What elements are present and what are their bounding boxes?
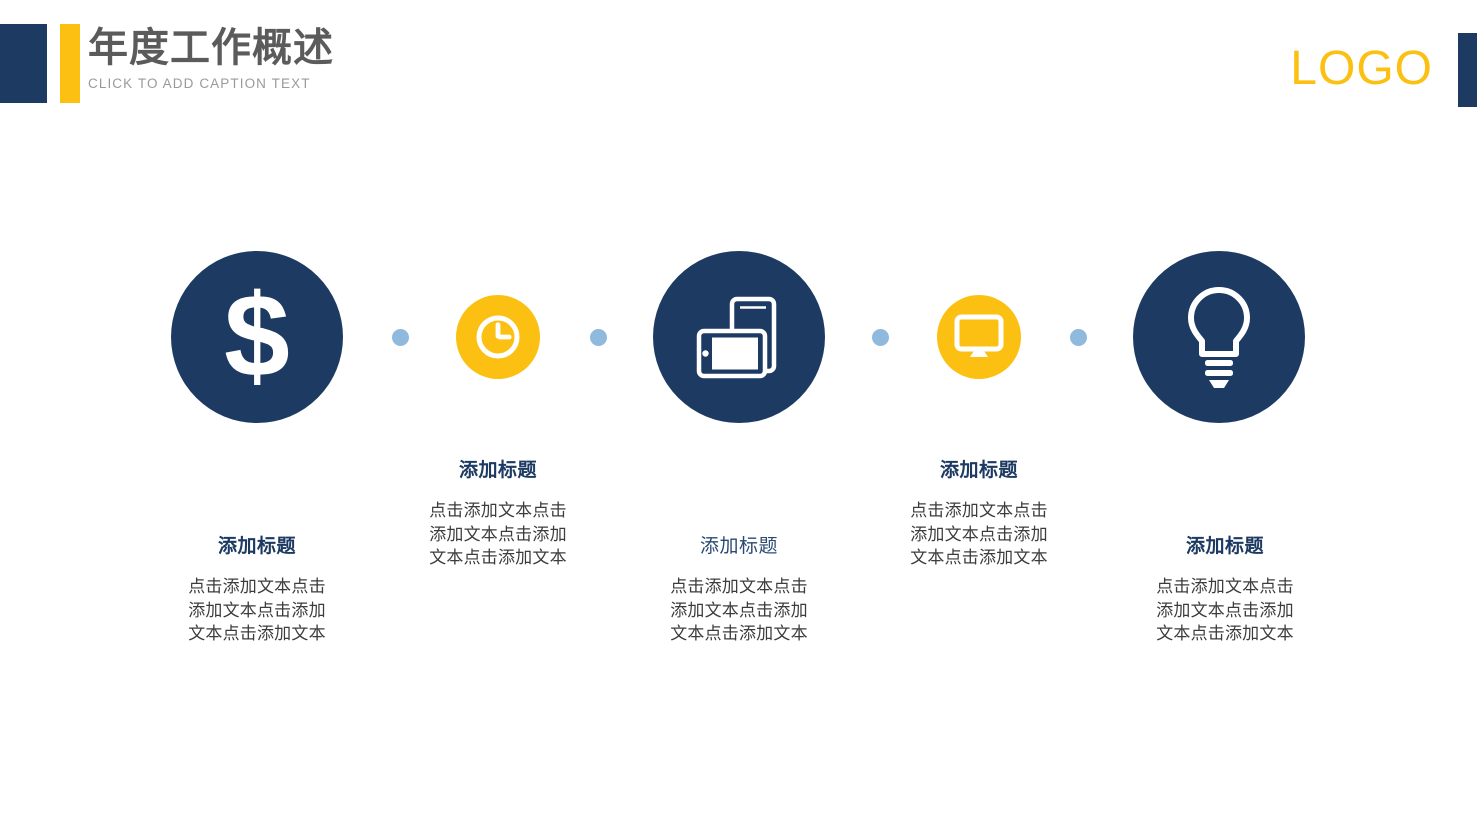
mobile-devices-icon bbox=[687, 285, 791, 389]
caption-body-line: 文本点击添加文本 bbox=[854, 546, 1104, 570]
caption-block-2: 添加标题 点击添加文本点击 添加文本点击添加 文本点击添加文本 bbox=[373, 458, 623, 570]
timeline-node-4[interactable] bbox=[937, 295, 1021, 379]
caption-title-5: 添加标题 bbox=[1100, 534, 1350, 560]
caption-title-2: 添加标题 bbox=[373, 458, 623, 484]
caption-body-line: 点击添加文本点击 bbox=[614, 575, 864, 599]
timeline-node-1[interactable]: $ bbox=[171, 251, 343, 423]
caption-title-3: 添加标题 bbox=[614, 534, 864, 560]
svg-text:$: $ bbox=[224, 282, 290, 392]
caption-block-1: 添加标题 点击添加文本点击 添加文本点击添加 文本点击添加文本 bbox=[132, 534, 382, 646]
caption-body-line: 添加文本点击添加 bbox=[1100, 599, 1350, 623]
caption-body-5: 点击添加文本点击 添加文本点击添加 文本点击添加文本 bbox=[1100, 575, 1350, 646]
timeline-node-2[interactable] bbox=[456, 295, 540, 379]
caption-body-4: 点击添加文本点击 添加文本点击添加 文本点击添加文本 bbox=[854, 499, 1104, 570]
caption-body-line: 添加文本点击添加 bbox=[614, 599, 864, 623]
clock-icon bbox=[473, 312, 523, 362]
caption-title-4: 添加标题 bbox=[854, 458, 1104, 484]
caption-title-1: 添加标题 bbox=[132, 534, 382, 560]
caption-body-line: 添加文本点击添加 bbox=[132, 599, 382, 623]
caption-body-line: 文本点击添加文本 bbox=[1100, 622, 1350, 646]
caption-body-line: 添加文本点击添加 bbox=[373, 523, 623, 547]
timeline-node-5[interactable] bbox=[1133, 251, 1305, 423]
caption-body-line: 文本点击添加文本 bbox=[614, 622, 864, 646]
timeline-diagram: $ bbox=[0, 0, 1477, 827]
caption-block-3: 添加标题 点击添加文本点击 添加文本点击添加 文本点击添加文本 bbox=[614, 534, 864, 646]
caption-body-3: 点击添加文本点击 添加文本点击添加 文本点击添加文本 bbox=[614, 575, 864, 646]
caption-body-line: 点击添加文本点击 bbox=[373, 499, 623, 523]
lightbulb-icon bbox=[1179, 282, 1259, 392]
connector-dot-4 bbox=[1070, 329, 1087, 346]
connector-dot-1 bbox=[392, 329, 409, 346]
caption-body-line: 点击添加文本点击 bbox=[1100, 575, 1350, 599]
caption-body-1: 点击添加文本点击 添加文本点击添加 文本点击添加文本 bbox=[132, 575, 382, 646]
connector-dot-3 bbox=[872, 329, 889, 346]
monitor-icon bbox=[953, 313, 1005, 361]
caption-block-4: 添加标题 点击添加文本点击 添加文本点击添加 文本点击添加文本 bbox=[854, 458, 1104, 570]
timeline-node-3[interactable] bbox=[653, 251, 825, 423]
caption-body-line: 点击添加文本点击 bbox=[132, 575, 382, 599]
caption-body-line: 文本点击添加文本 bbox=[132, 622, 382, 646]
caption-body-line: 文本点击添加文本 bbox=[373, 546, 623, 570]
dollar-icon: $ bbox=[211, 282, 303, 392]
caption-block-5: 添加标题 点击添加文本点击 添加文本点击添加 文本点击添加文本 bbox=[1100, 534, 1350, 646]
caption-body-line: 点击添加文本点击 bbox=[854, 499, 1104, 523]
connector-dot-2 bbox=[590, 329, 607, 346]
caption-body-2: 点击添加文本点击 添加文本点击添加 文本点击添加文本 bbox=[373, 499, 623, 570]
caption-body-line: 添加文本点击添加 bbox=[854, 523, 1104, 547]
